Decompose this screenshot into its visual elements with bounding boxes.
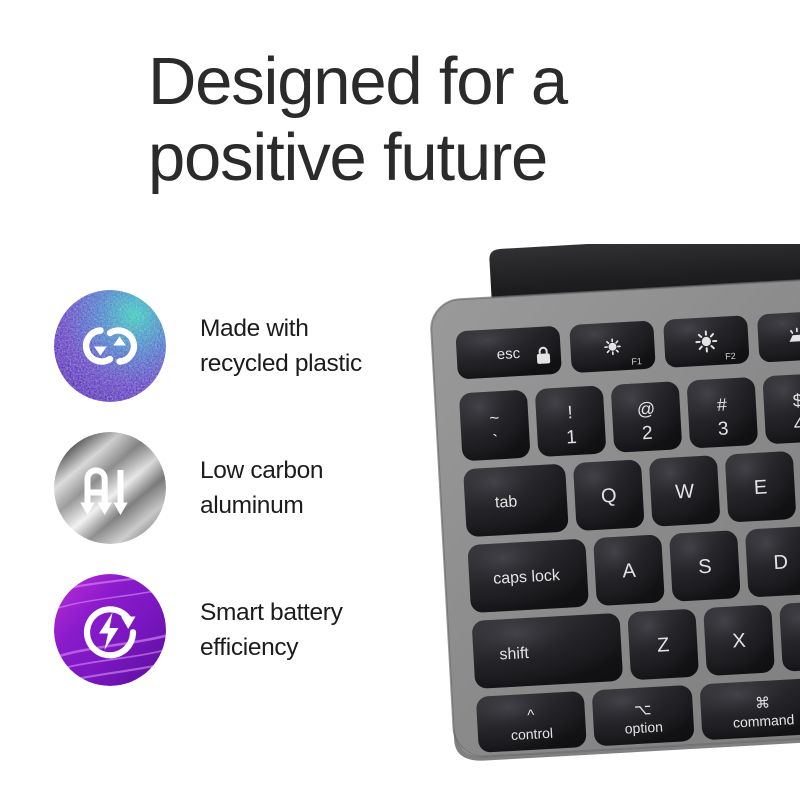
svg-text:Z: Z (657, 634, 670, 657)
recycling-arrows-icon (54, 290, 166, 402)
svg-text:~: ~ (489, 408, 500, 428)
svg-text:⌥: ⌥ (634, 701, 652, 719)
page-title: Designed for a positive future (148, 44, 708, 196)
svg-text:F2: F2 (725, 351, 736, 362)
svg-text:S: S (698, 556, 713, 579)
svg-text:@: @ (636, 398, 655, 419)
svg-text:1: 1 (566, 427, 578, 449)
key-e[interactable]: E (725, 451, 797, 523)
key-f1[interactable]: F1 (569, 320, 656, 373)
feature-label-line-2: recycled plastic (200, 346, 436, 381)
key-q[interactable]: Q (573, 459, 645, 531)
svg-text:`: ` (492, 431, 499, 450)
headline-line-2: positive future (148, 120, 708, 196)
svg-text:^: ^ (527, 707, 535, 724)
battery-recharge-bolt-icon (54, 574, 166, 686)
feature-label-line-2: aluminum (200, 488, 436, 523)
key-command[interactable]: ⌘ command (699, 678, 800, 741)
svg-text:3: 3 (717, 418, 729, 440)
svg-text:control: control (511, 725, 554, 743)
key-d[interactable]: D (745, 526, 800, 598)
key-tilde[interactable]: ~ ` (459, 390, 531, 462)
svg-text:D: D (773, 551, 789, 574)
feature-label-smart-battery-efficiency: Smart battery efficiency (200, 595, 436, 665)
wireless-keyboard: esc (424, 244, 800, 764)
key-x[interactable]: X (703, 604, 775, 676)
key-w[interactable]: W (649, 455, 721, 527)
feature-label-line-1: Smart battery (200, 595, 436, 630)
key-control[interactable]: ^ control (476, 691, 587, 753)
svg-text:A: A (622, 560, 637, 583)
key-tab[interactable]: tab (463, 464, 569, 538)
svg-text:2: 2 (642, 423, 654, 445)
feature-label-low-carbon-aluminum: Low carbon aluminum (200, 453, 436, 523)
key-shift[interactable]: shift (472, 613, 624, 689)
feature-label-line-1: Low carbon (200, 453, 436, 488)
svg-text:⌘: ⌘ (755, 695, 771, 713)
svg-text:esc: esc (496, 345, 521, 363)
brightness-up-icon (696, 331, 717, 352)
svg-text:W: W (675, 480, 695, 503)
svg-text:option: option (624, 719, 663, 737)
key-a[interactable]: A (593, 534, 665, 606)
svg-text:tab: tab (495, 493, 518, 511)
svg-text:shift: shift (499, 645, 530, 664)
key-z[interactable]: Z (627, 609, 699, 681)
product-feature-card: Designed for a positive future (0, 0, 800, 800)
key-option[interactable]: ⌥ option (592, 685, 695, 746)
feature-item-smart-battery-efficiency: Smart battery efficiency (54, 574, 434, 716)
svg-text:$: $ (792, 390, 800, 411)
feature-item-recycled-plastic: Made with recycled plastic (54, 290, 434, 432)
key-f2[interactable]: F2 (663, 315, 750, 368)
key-esc[interactable]: esc (455, 326, 562, 380)
svg-text:command: command (732, 711, 794, 730)
svg-text:F1: F1 (631, 356, 642, 367)
headline-line-1: Designed for a (148, 44, 708, 120)
key-1[interactable]: ! 1 (535, 385, 607, 457)
feature-list: Made with recycled plastic (54, 290, 434, 716)
key-f3[interactable]: F3 (757, 310, 800, 363)
feature-label-line-1: Made with (200, 311, 436, 346)
svg-text:4: 4 (793, 414, 800, 436)
svg-text:Q: Q (600, 485, 617, 508)
svg-text:E: E (753, 476, 768, 499)
key-4[interactable]: $ 4 (762, 373, 800, 445)
brightness-down-icon (605, 339, 621, 355)
svg-text:X: X (732, 630, 747, 653)
key-3[interactable]: # 3 (686, 377, 758, 449)
feature-item-low-carbon-aluminum: Low carbon aluminum (54, 432, 434, 574)
feature-label-recycled-plastic: Made with recycled plastic (200, 311, 436, 381)
key-caps-lock[interactable]: caps lock (467, 539, 589, 613)
key-s[interactable]: S (669, 530, 741, 602)
aluminum-al-arrows-icon (54, 432, 166, 544)
svg-text:#: # (716, 394, 727, 415)
key-2[interactable]: @ 2 (611, 381, 683, 453)
feature-label-line-2: efficiency (200, 630, 436, 665)
